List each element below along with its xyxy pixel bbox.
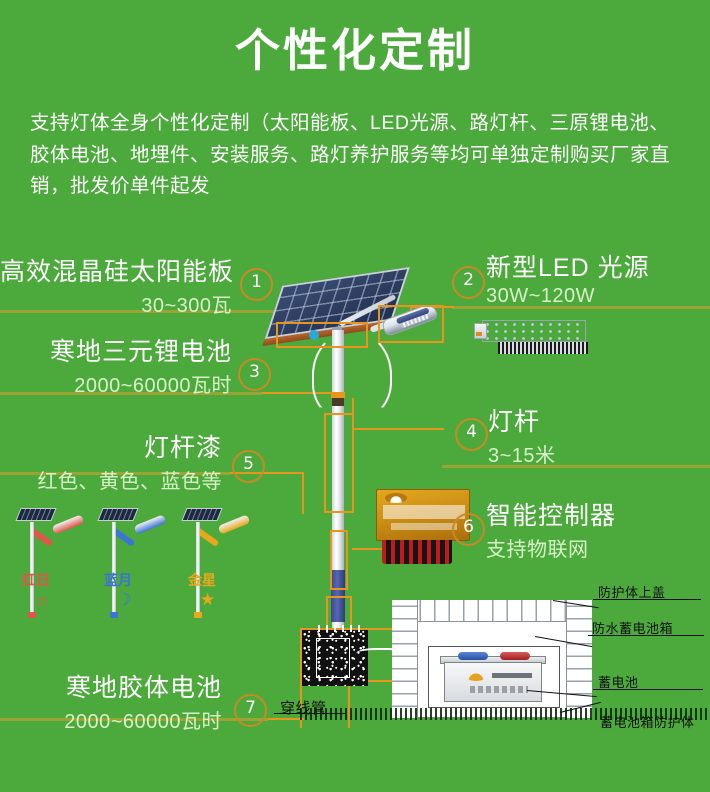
callout-1-number: 1 bbox=[240, 268, 273, 301]
annotation-cover-rule bbox=[593, 599, 701, 600]
enclosure-top-cover bbox=[392, 600, 592, 622]
leader-line-5b bbox=[302, 472, 304, 514]
callout-1-title: 高效混晶硅太阳能板 bbox=[0, 252, 232, 288]
callout-2-spec: 30W~120W bbox=[486, 285, 650, 308]
leader-line-4 bbox=[352, 428, 444, 430]
mini-panel-icon bbox=[97, 508, 138, 521]
annotation-battery-rule bbox=[593, 689, 703, 690]
callout-7-spec: 2000~60000瓦时 bbox=[0, 705, 222, 734]
mini-lamp-head-icon bbox=[217, 514, 250, 534]
callout-3-title: 寒地三元锂电池 bbox=[0, 332, 232, 368]
highlight-box-pole-top bbox=[324, 413, 354, 513]
page-description: 支持灯体全身个性化定制（太阳能板、LED光源、路灯杆、三原锂电池、胶体电池、地埋… bbox=[30, 108, 685, 203]
annotation-conduit-rule bbox=[274, 713, 346, 714]
callout-5-spec: 红色、黄色、蓝色等 bbox=[0, 465, 222, 494]
conduit-inner bbox=[316, 638, 350, 678]
mini-panel-icon bbox=[15, 508, 56, 521]
mini-lamp-head-icon bbox=[133, 514, 166, 534]
callout-2-label: 新型LED 光源 30W~120W bbox=[486, 248, 650, 308]
callout-3-spec: 2000~60000瓦时 bbox=[0, 369, 232, 398]
battery-spec-text bbox=[470, 686, 528, 693]
led-module-photo bbox=[474, 320, 586, 354]
callout-6-number: 6 bbox=[452, 513, 485, 546]
battery-logo bbox=[466, 672, 486, 681]
mini-pole-name: 金星 bbox=[188, 570, 216, 590]
conduit-anchor-bolts bbox=[312, 625, 360, 632]
mini-lamp-head-icon bbox=[51, 514, 84, 534]
mini-panel-icon bbox=[181, 508, 222, 521]
highlight-box-lamp bbox=[378, 305, 444, 343]
callout-4-spec: 3~15米 bbox=[488, 439, 556, 468]
conduit-cable bbox=[356, 648, 408, 662]
annotation-conduit: 穿线管 bbox=[280, 697, 327, 718]
leader-conduit-drop2 bbox=[348, 682, 350, 728]
mini-pole-foot bbox=[110, 612, 118, 618]
mini-pole-foot bbox=[28, 612, 36, 618]
callout-7-title: 寒地胶体电池 bbox=[0, 668, 222, 704]
highlight-box-pole-mid bbox=[330, 530, 348, 590]
battery-photo bbox=[444, 662, 542, 702]
battery-terminal-positive bbox=[500, 652, 530, 660]
enclosure-right-wall bbox=[566, 600, 592, 718]
mini-pole-name: 蓝月 bbox=[104, 570, 132, 590]
annotation-waterproof-rule bbox=[588, 635, 704, 636]
battery-terminal-negative bbox=[458, 652, 488, 660]
callout-7-number: 7 bbox=[234, 694, 267, 727]
callout-1-label: 高效混晶硅太阳能板 30~300瓦 bbox=[0, 252, 232, 318]
callout-5-number: 5 bbox=[232, 450, 265, 483]
mini-pole-name: 红日 bbox=[22, 570, 50, 590]
callout-2-title: 新型LED 光源 bbox=[486, 248, 650, 284]
annotation-enclosure-body: 蓄电池箱防护体 bbox=[600, 712, 695, 731]
page-title: 个性化定制 bbox=[0, 26, 710, 76]
mini-pole-icon: ☼ bbox=[34, 590, 50, 610]
callout-7-label: 寒地胶体电池 2000~60000瓦时 bbox=[0, 668, 222, 734]
highlight-box-panel bbox=[276, 322, 368, 348]
callout-6-label: 智能控制器 支持物联网 bbox=[486, 496, 616, 562]
callout-2-number: 2 bbox=[452, 266, 485, 299]
poster-root: 个性化定制 支持灯体全身个性化定制（太阳能板、LED光源、路灯杆、三原锂电池、胶… bbox=[0, 0, 710, 792]
mini-pole-icon: ★ bbox=[200, 590, 215, 610]
callout-6-title: 智能控制器 bbox=[486, 496, 616, 532]
mini-pole-foot bbox=[194, 612, 202, 618]
battery-brand-text bbox=[492, 673, 532, 678]
callout-1-spec: 30~300瓦 bbox=[0, 289, 232, 318]
callout-5-title: 灯杆漆 bbox=[0, 428, 222, 464]
leader-line-7 bbox=[268, 718, 304, 720]
callout-4-number: 4 bbox=[455, 418, 488, 451]
callout-3-number: 3 bbox=[238, 358, 271, 391]
callout-5-label: 灯杆漆 红色、黄色、蓝色等 bbox=[0, 428, 222, 494]
controller-wires bbox=[382, 540, 452, 564]
callout-4-label: 灯杆 3~15米 bbox=[488, 402, 556, 468]
divider-rule-6 bbox=[442, 465, 710, 468]
mini-pole-icon: ☽ bbox=[116, 590, 131, 610]
callout-3-label: 寒地三元锂电池 2000~60000瓦时 bbox=[0, 332, 232, 398]
callout-4-title: 灯杆 bbox=[488, 402, 556, 438]
callout-6-spec: 支持物联网 bbox=[486, 533, 616, 562]
